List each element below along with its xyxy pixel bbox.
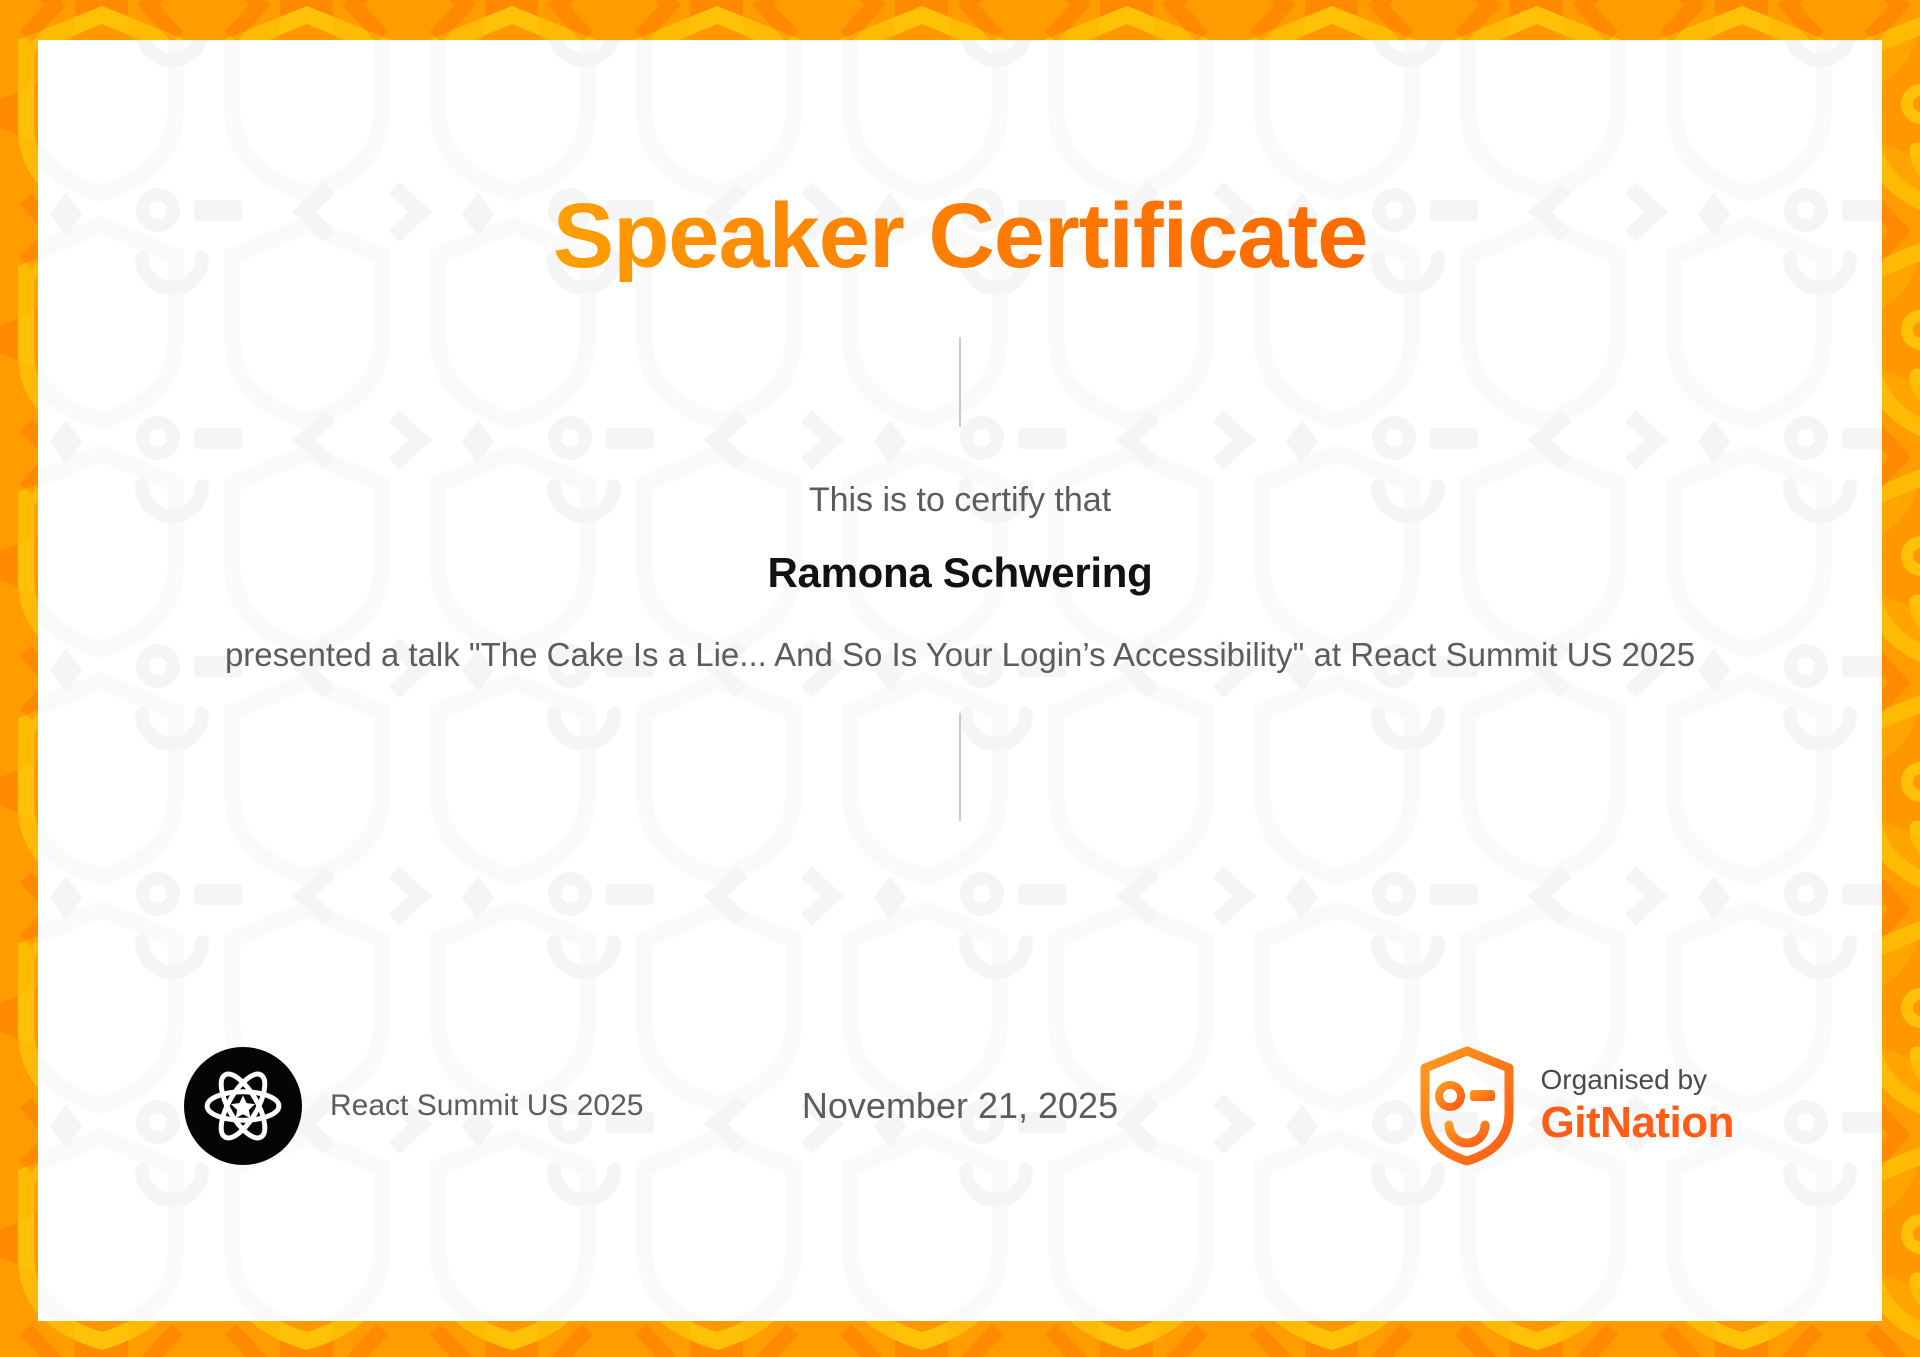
page-title: Speaker Certificate bbox=[553, 190, 1368, 282]
event-name: React Summit US 2025 bbox=[330, 1089, 643, 1123]
certificate-footer: React Summit US 2025 November 21, 2025 bbox=[38, 1041, 1882, 1171]
react-atom-icon bbox=[197, 1060, 289, 1152]
recipient-name: Ramona Schwering bbox=[768, 549, 1153, 597]
certificate-card: Speaker Certificate This is to certify t… bbox=[38, 40, 1882, 1321]
organised-by-label: Organised by bbox=[1541, 1064, 1734, 1096]
certify-statement: This is to certify that bbox=[809, 479, 1111, 522]
talk-description: presented a talk "The Cake Is a Lie... A… bbox=[225, 631, 1695, 679]
organiser-text-block: Organised by GitNation bbox=[1541, 1064, 1734, 1149]
organiser-branding: Organised by GitNation bbox=[1417, 1045, 1734, 1167]
divider-bottom bbox=[959, 713, 961, 821]
event-branding: React Summit US 2025 bbox=[184, 1047, 643, 1165]
organiser-name: GitNation bbox=[1541, 1098, 1734, 1149]
divider-top bbox=[959, 337, 961, 427]
certificate-date: November 21, 2025 bbox=[802, 1085, 1118, 1127]
certificate-body: This is to certify that Ramona Schwering… bbox=[38, 479, 1882, 678]
certificate-frame: Speaker Certificate This is to certify t… bbox=[0, 0, 1920, 1357]
gitnation-shield-face-icon bbox=[1417, 1045, 1517, 1167]
react-logo-badge bbox=[184, 1047, 302, 1165]
